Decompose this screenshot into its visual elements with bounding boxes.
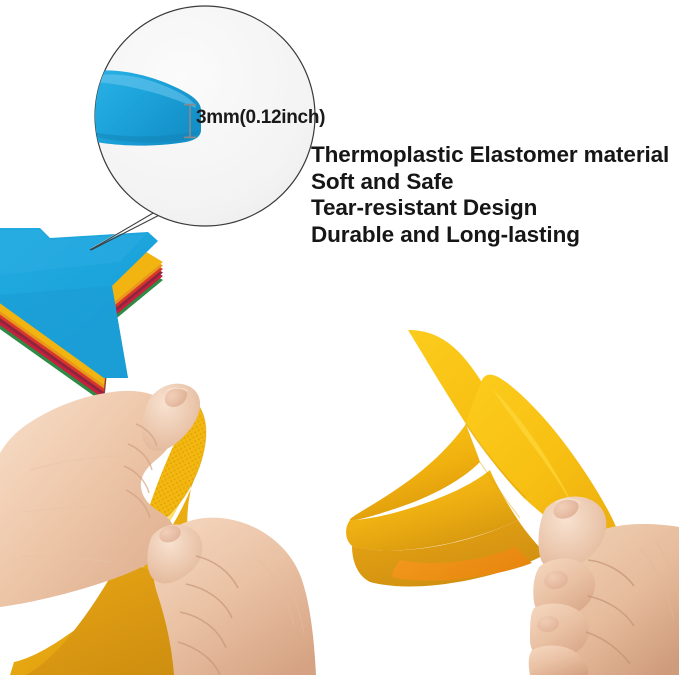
right-demo-star-and-hand xyxy=(346,330,679,675)
left-demo-hands-and-sheet xyxy=(0,383,316,675)
product-feature-image: 3mm(0.12inch) Thermoplastic Elastomer ma… xyxy=(0,0,679,675)
feature-line-4: Durable and Long-lasting xyxy=(311,222,679,249)
feature-list: Thermoplastic Elastomer material Soft an… xyxy=(311,142,679,248)
right-hand-pulling xyxy=(147,518,316,675)
feature-line-2: Soft and Safe xyxy=(311,169,679,196)
feature-line-1: Thermoplastic Elastomer material xyxy=(311,142,679,169)
illustration-canvas xyxy=(0,0,679,675)
feature-line-3: Tear-resistant Design xyxy=(311,195,679,222)
hand-flexing-star-sheet xyxy=(529,496,679,675)
magnifier-callout xyxy=(79,6,315,250)
stacked-star-sheets xyxy=(0,228,163,403)
thickness-dimension-label: 3mm(0.12inch) xyxy=(196,108,325,128)
